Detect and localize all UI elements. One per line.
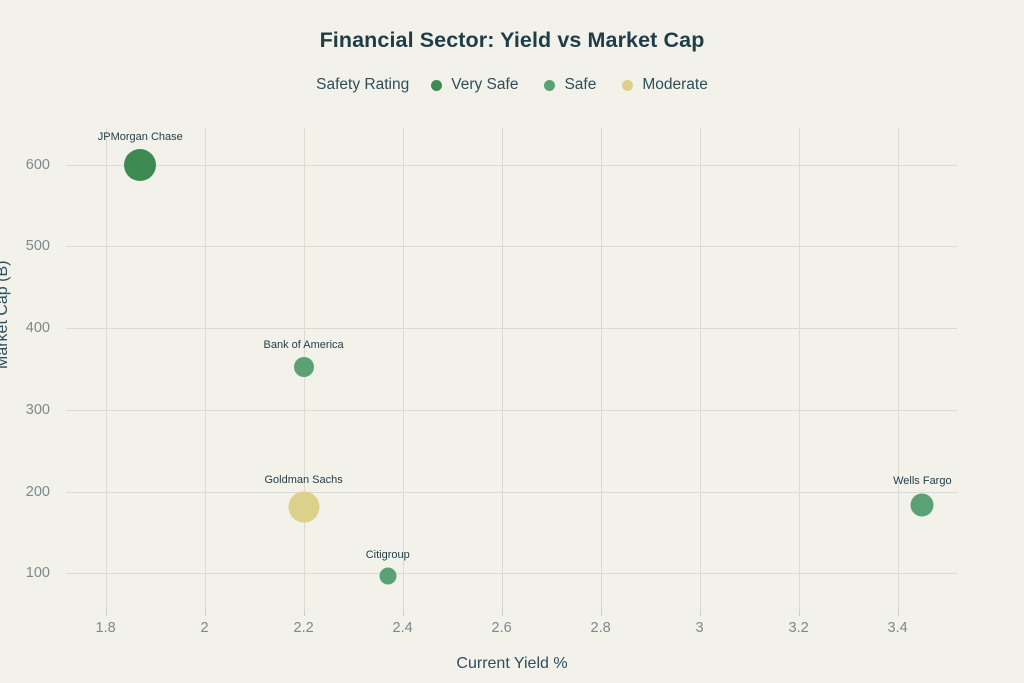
x-axis-tick: 2.8 (591, 620, 611, 636)
y-axis-tick: 200 (0, 484, 50, 500)
legend-swatch-icon (431, 80, 442, 91)
gridline-vertical (898, 128, 899, 610)
x-axis-tick-mark (700, 610, 701, 616)
gridline-vertical (601, 128, 602, 610)
gridline-horizontal (66, 573, 957, 574)
legend-swatch-icon (544, 80, 555, 91)
legend-item-safe[interactable]: Safe (544, 76, 596, 94)
gridline-horizontal (66, 492, 957, 493)
x-axis-tick-mark (799, 610, 800, 616)
gridline-vertical (799, 128, 800, 610)
y-axis-tick: 300 (0, 402, 50, 418)
data-point-label: Citigroup (366, 549, 410, 561)
x-axis-tick: 2.6 (492, 620, 512, 636)
data-point-label: Bank of America (264, 339, 344, 351)
y-axis-tick: 600 (0, 157, 50, 173)
scatter-chart: Financial Sector: Yield vs Market Cap Sa… (0, 0, 1024, 683)
x-axis-tick-mark (205, 610, 206, 616)
legend-swatch-icon (622, 80, 633, 91)
y-axis-title: Market Cap (B) (0, 261, 12, 369)
x-axis-title: Current Yield % (0, 655, 1024, 673)
x-axis-tick: 1.8 (96, 620, 116, 636)
legend-items: Very SafeSafeModerate (431, 76, 708, 94)
legend-item-label: Safe (564, 76, 596, 94)
data-point-label: JPMorgan Chase (98, 131, 183, 143)
plot-area: 100200300400500600 1.822.22.42.62.833.23… (66, 128, 957, 610)
x-axis-tick: 3.4 (888, 620, 908, 636)
data-point-bank-of-america[interactable] (294, 357, 314, 377)
legend-item-label: Moderate (642, 76, 707, 94)
gridline-vertical (502, 128, 503, 610)
data-point-label: Wells Fargo (893, 475, 951, 487)
x-axis-tick-mark (106, 610, 107, 616)
legend-title: Safety Rating (316, 76, 409, 94)
gridline-horizontal (66, 328, 957, 329)
x-axis-tick-mark (502, 610, 503, 616)
x-axis-tick: 3.2 (789, 620, 809, 636)
x-axis-tick-mark (403, 610, 404, 616)
gridline-vertical (700, 128, 701, 610)
legend-item-label: Very Safe (451, 76, 518, 94)
legend-item-moderate[interactable]: Moderate (622, 76, 707, 94)
legend-item-very-safe[interactable]: Very Safe (431, 76, 518, 94)
gridline-horizontal (66, 410, 957, 411)
data-point-wells-fargo[interactable] (911, 493, 934, 516)
x-axis-tick-mark (898, 610, 899, 616)
y-axis-tick: 500 (0, 238, 50, 254)
x-axis-tick: 2.2 (294, 620, 314, 636)
x-axis-tick: 2 (201, 620, 209, 636)
gridline-vertical (205, 128, 206, 610)
x-axis-tick: 3 (696, 620, 704, 636)
x-axis-tick-mark (601, 610, 602, 616)
x-axis-tick-mark (304, 610, 305, 616)
data-point-citigroup[interactable] (379, 567, 396, 584)
data-point-goldman-sachs[interactable] (288, 492, 319, 523)
data-point-jpmorgan-chase[interactable] (124, 149, 156, 181)
chart-legend: Safety Rating Very SafeSafeModerate (0, 76, 1024, 94)
data-point-label: Goldman Sachs (264, 474, 342, 486)
gridline-horizontal (66, 246, 957, 247)
gridline-vertical (106, 128, 107, 610)
gridline-vertical (403, 128, 404, 610)
gridline-horizontal (66, 165, 957, 166)
y-axis-tick: 100 (0, 565, 50, 581)
x-axis-tick: 2.4 (393, 620, 413, 636)
chart-title: Financial Sector: Yield vs Market Cap (0, 28, 1024, 53)
